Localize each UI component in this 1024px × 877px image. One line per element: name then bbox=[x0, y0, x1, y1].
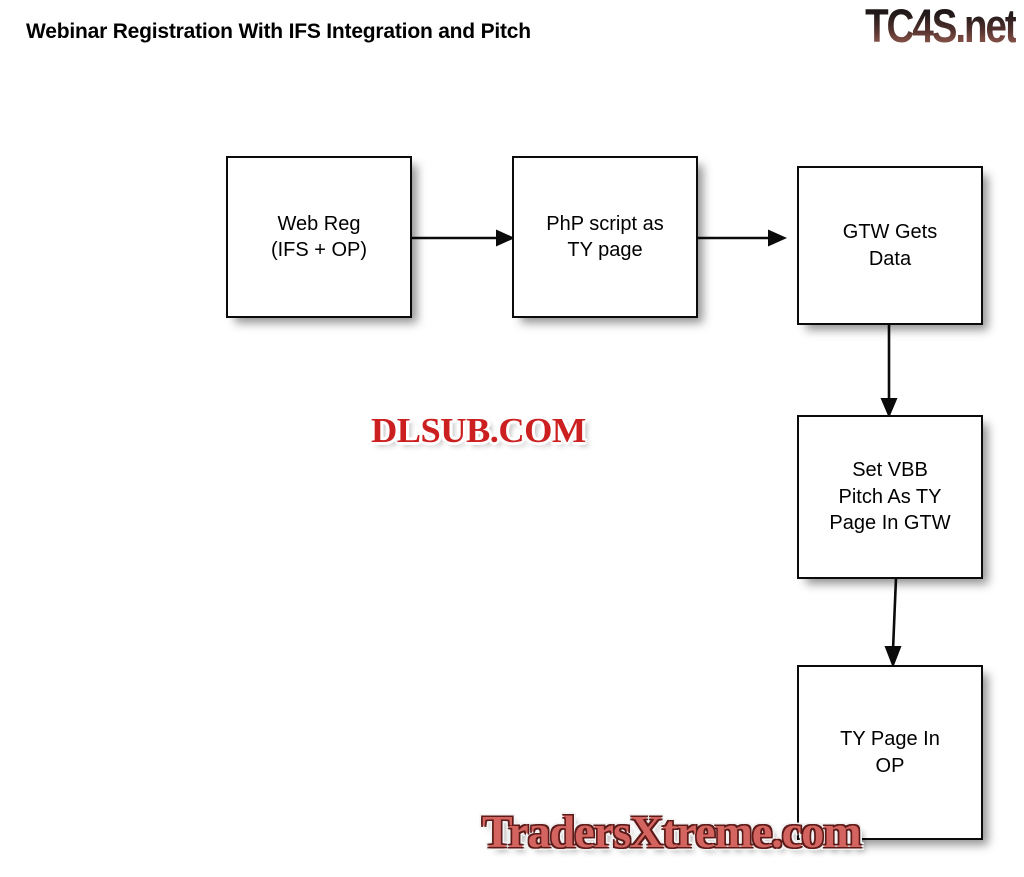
flow-node-gtw-gets-data-label: GTW Gets Data bbox=[837, 219, 943, 272]
flow-node-set-vbb-pitch-label: Set VBB Pitch As TY Page In GTW bbox=[823, 457, 956, 536]
edge-web-reg-to-php bbox=[408, 226, 520, 250]
flow-node-php-script-label: PhP script as TY page bbox=[540, 211, 669, 264]
edge-gtw-to-vbb bbox=[872, 322, 912, 422]
watermark-dlsub: DLSUB.COM bbox=[371, 411, 586, 451]
watermark-tradersxtreme: TradersXtreme.com bbox=[482, 805, 861, 858]
flow-node-web-reg[interactable]: Web Reg (IFS + OP) bbox=[226, 156, 412, 318]
flow-node-gtw-gets-data[interactable]: GTW Gets Data bbox=[797, 166, 983, 325]
edge-php-to-gtw bbox=[694, 226, 806, 250]
edge-vbb-to-ty-op bbox=[872, 576, 912, 672]
flow-node-ty-page-in-op-label: TY Page In OP bbox=[834, 726, 946, 779]
flow-node-php-script[interactable]: PhP script as TY page bbox=[512, 156, 698, 318]
flow-node-web-reg-label: Web Reg (IFS + OP) bbox=[265, 211, 373, 264]
flow-node-set-vbb-pitch[interactable]: Set VBB Pitch As TY Page In GTW bbox=[797, 415, 983, 579]
